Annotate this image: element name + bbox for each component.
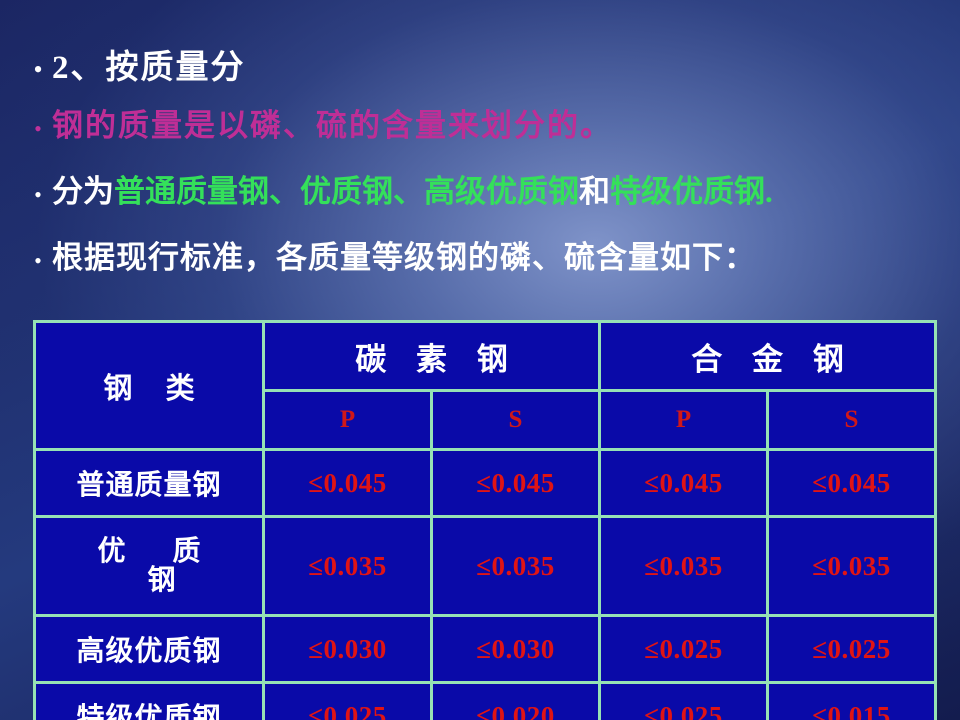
bullet-item-3: • 分为普通质量钢、优质钢、高级优质钢和特级优质钢. <box>24 166 773 211</box>
cell-value: ≤0.025 <box>600 683 768 720</box>
slide-canvas: • 2、按质量分 • 钢的质量是以磷、硫的含量来划分的。 • 分为普通质量钢、优… <box>0 0 960 720</box>
row-label-ordinary: 普通质量钢 <box>35 450 264 517</box>
header-steel-class: 钢 类 <box>35 322 264 450</box>
bullet-text-2: 钢的质量是以磷、硫的含量来划分的。 <box>52 100 613 145</box>
cell-value: ≤0.025 <box>768 616 936 683</box>
row-label-quality-line1: 优 质 <box>36 537 262 566</box>
cell-value: ≤0.020 <box>432 683 600 720</box>
cell-value: ≤0.035 <box>600 517 768 616</box>
cell-value: ≤0.015 <box>768 683 936 720</box>
header-carbon-p: P <box>264 391 432 450</box>
bullet-3-grades-primary: 普通质量钢、优质钢、高级优质钢 <box>114 174 579 209</box>
cell-value: ≤0.045 <box>768 450 936 517</box>
cell-value: ≤0.025 <box>264 683 432 720</box>
header-alloy-s: S <box>768 391 936 450</box>
table-row: 特级优质钢 ≤0.025 ≤0.020 ≤0.025 ≤0.015 <box>35 683 936 720</box>
bullet-marker-icon: • <box>24 250 52 272</box>
cell-value: ≤0.025 <box>600 616 768 683</box>
bullet-3-conjunction: 和 <box>579 174 610 209</box>
header-alloy-p: P <box>600 391 768 450</box>
table-row: 高级优质钢 ≤0.030 ≤0.030 ≤0.025 ≤0.025 <box>35 616 936 683</box>
header-carbon-s: S <box>432 391 600 450</box>
cell-value: ≤0.035 <box>432 517 600 616</box>
bullet-marker-icon: • <box>24 184 52 206</box>
cell-value: ≤0.045 <box>264 450 432 517</box>
cell-value: ≤0.030 <box>432 616 600 683</box>
row-label-high-quality: 高级优质钢 <box>35 616 264 683</box>
header-alloy-steel: 合 金 钢 <box>600 322 936 391</box>
bullet-3-lead: 分为 <box>52 174 114 209</box>
bullet-3-grades-secondary: 特级优质钢. <box>610 174 773 209</box>
row-label-special-quality: 特级优质钢 <box>35 683 264 720</box>
bullet-text-1: 2、按质量分 <box>52 40 246 88</box>
bullet-marker-icon: • <box>24 118 52 140</box>
cell-value: ≤0.045 <box>600 450 768 517</box>
cell-value: ≤0.045 <box>432 450 600 517</box>
bullet-marker-icon: • <box>24 57 52 83</box>
header-carbon-steel: 碳 素 钢 <box>264 322 600 391</box>
bullet-text-3: 分为普通质量钢、优质钢、高级优质钢和特级优质钢. <box>52 166 773 211</box>
row-label-quality-line2: 钢 <box>36 566 262 595</box>
bullet-text-4: 根据现行标准，各质量等级钢的磷、硫含量如下： <box>52 232 756 277</box>
bullet-item-4: • 根据现行标准，各质量等级钢的磷、硫含量如下： <box>24 232 756 277</box>
table-row: 普通质量钢 ≤0.045 ≤0.045 ≤0.045 ≤0.045 <box>35 450 936 517</box>
cell-value: ≤0.035 <box>768 517 936 616</box>
bullet-item-2: • 钢的质量是以磷、硫的含量来划分的。 <box>24 100 613 145</box>
table-row: 优 质钢 ≤0.035 ≤0.035 ≤0.035 ≤0.035 <box>35 517 936 616</box>
table-header-row-categories: 钢 类 碳 素 钢 合 金 钢 <box>35 322 936 391</box>
row-label-quality: 优 质钢 <box>35 517 264 616</box>
steel-quality-table: 钢 类 碳 素 钢 合 金 钢 P S P S 普通质量钢 ≤0.045 ≤0.… <box>33 320 937 720</box>
cell-value: ≤0.030 <box>264 616 432 683</box>
cell-value: ≤0.035 <box>264 517 432 616</box>
bullet-item-1: • 2、按质量分 <box>24 40 246 88</box>
